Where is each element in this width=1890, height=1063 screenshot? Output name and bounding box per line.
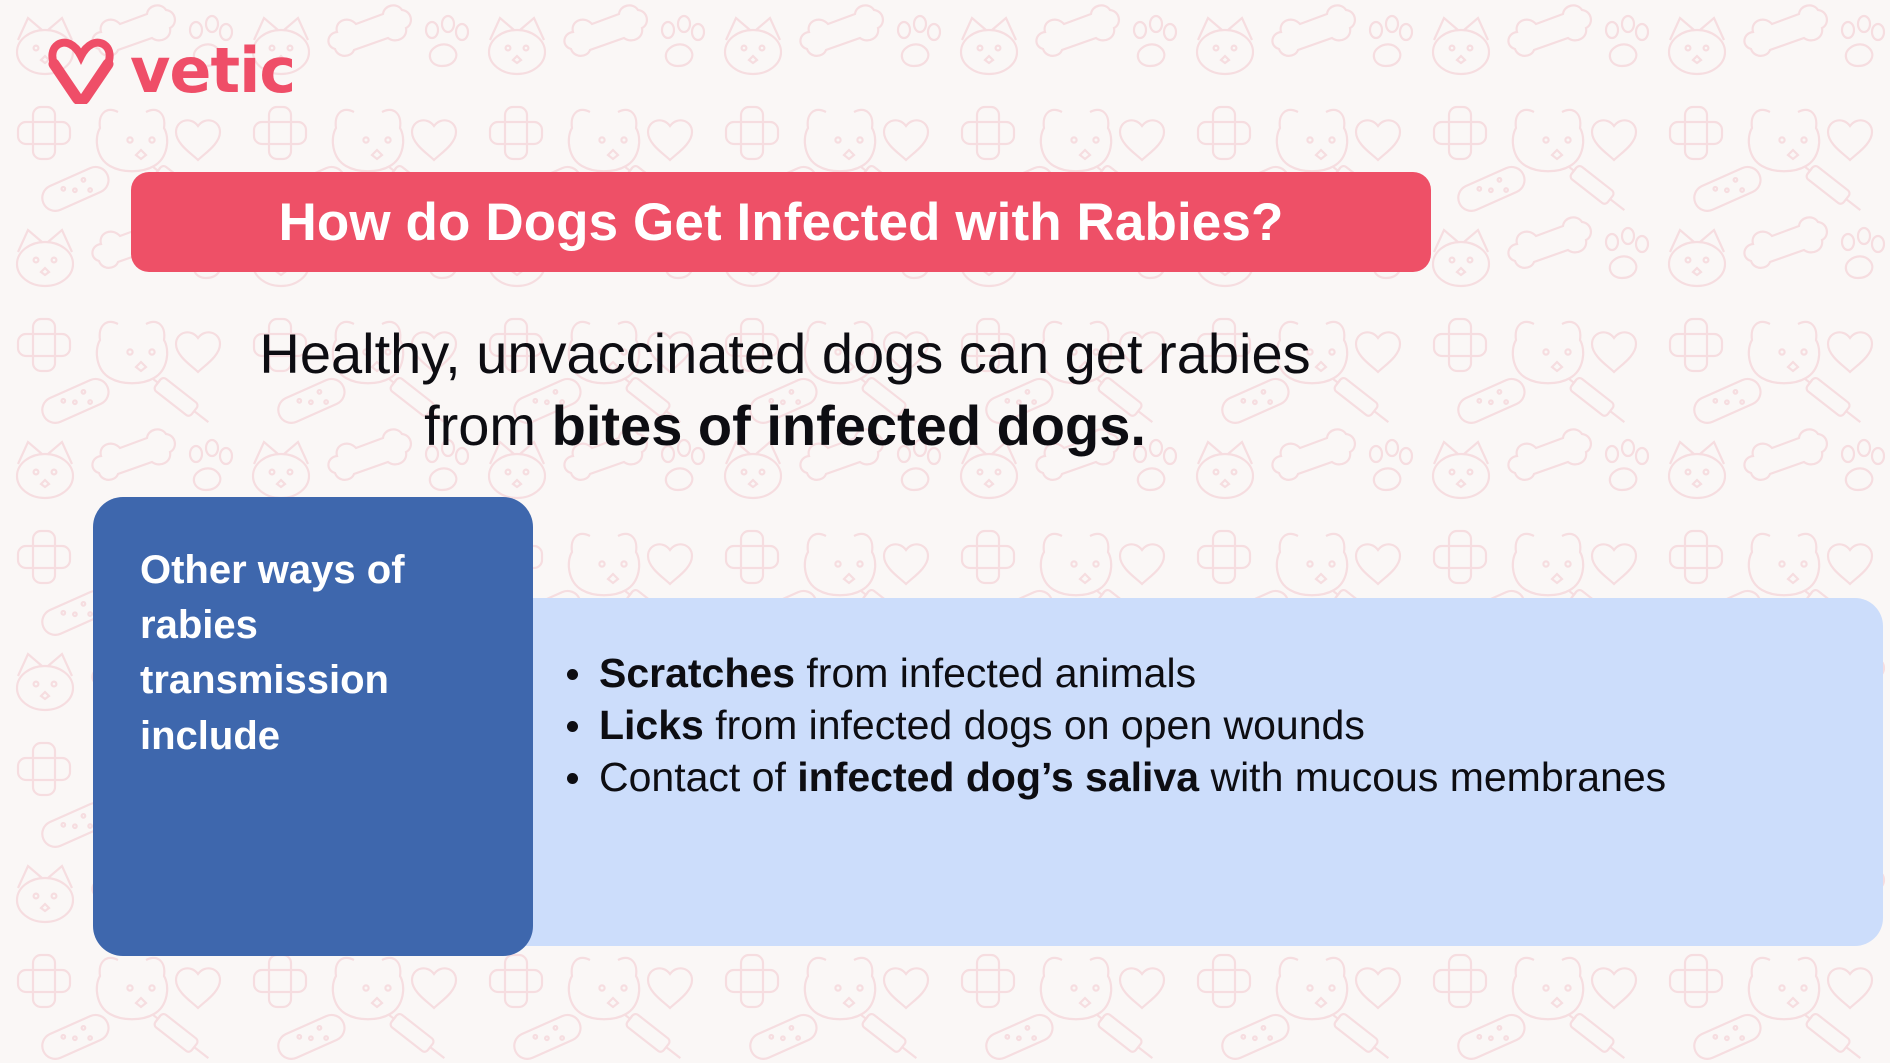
intro-line-2-prefix: from (424, 394, 552, 457)
brand-logo: vetic (46, 38, 295, 104)
callout-label: Other ways of rabies transmission includ… (140, 543, 493, 764)
bullet-1-emphasis: Scratches (599, 650, 795, 696)
list-item: Licks from infected dogs on open wounds (553, 699, 1843, 751)
list-item: Contact of infected dog’s saliva with mu… (553, 751, 1843, 803)
callout-label-panel: Other ways of rabies transmission includ… (93, 497, 533, 956)
intro-line-2-emphasis: bites of infected dogs. (552, 394, 1146, 457)
transmission-list: Scratches from infected animals Licks fr… (553, 647, 1843, 803)
intro-line-1: Healthy, unvaccinated dogs can get rabie… (0, 318, 1570, 390)
heart-v-icon (46, 38, 116, 104)
list-item: Scratches from infected animals (553, 647, 1843, 699)
brand-name: vetic (130, 40, 295, 102)
bullet-2-emphasis: Licks (599, 702, 704, 748)
bullet-2-rest: from infected dogs on open wounds (704, 702, 1365, 748)
bullet-3-emphasis: infected dog’s saliva (797, 754, 1199, 800)
bullet-3-suffix: with mucous membranes (1199, 754, 1666, 800)
bullet-1-rest: from infected animals (795, 650, 1196, 696)
intro-line-2: from bites of infected dogs. (0, 390, 1570, 462)
intro-paragraph: Healthy, unvaccinated dogs can get rabie… (0, 318, 1570, 461)
title-banner: How do Dogs Get Infected with Rabies? (131, 172, 1431, 272)
bullet-3-prefix: Contact of (599, 754, 797, 800)
page-title: How do Dogs Get Infected with Rabies? (279, 192, 1284, 253)
